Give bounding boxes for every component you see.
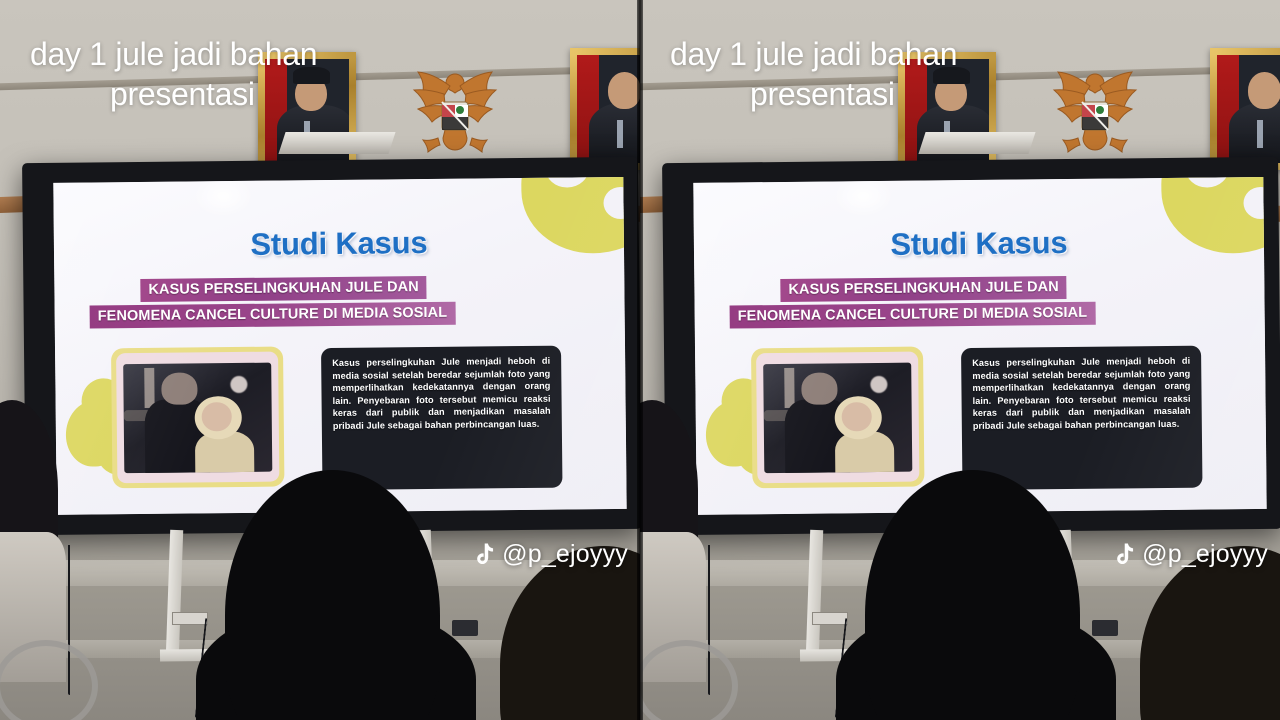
tv-screen: Studi Kasus KASUS PERSELINGKUHAN JULE DA… bbox=[53, 177, 626, 515]
tiktok-handle: @p_ejoyyy bbox=[502, 540, 628, 569]
slide-body-card: Kasus perselingkuhan Jule menjadi heboh … bbox=[961, 346, 1202, 491]
slide-banner-line-1: KASUS PERSELINGKUHAN JULE DAN bbox=[140, 276, 427, 302]
caption-line-2: presentasi bbox=[110, 74, 640, 114]
photo-light-beam bbox=[784, 368, 795, 407]
equipment-box bbox=[1092, 620, 1118, 636]
photo-person-2-face bbox=[842, 402, 872, 431]
caption-line-2: presentasi bbox=[750, 74, 1280, 114]
portrait-tie bbox=[617, 120, 623, 148]
tv-screen: Studi Kasus KASUS PERSELINGKUHAN JULE DA… bbox=[693, 177, 1266, 515]
split-seam bbox=[637, 0, 643, 720]
slide-body-text: Kasus perselingkuhan Jule menjadi heboh … bbox=[332, 355, 551, 433]
slide-photo-frame bbox=[751, 347, 924, 489]
video-half-right: Studi Kasus KASUS PERSELINGKUHAN JULE DA… bbox=[640, 0, 1280, 720]
video-half-left: Studi Kasus KASUS PERSELINGKUHAN JULE DA… bbox=[0, 0, 640, 720]
lectern bbox=[278, 132, 395, 154]
video-frame: Studi Kasus KASUS PERSELINGKUHAN JULE DA… bbox=[0, 0, 1280, 720]
slide-banner-line-2: FENOMENA CANCEL CULTURE DI MEDIA SOSIAL bbox=[730, 302, 1096, 329]
stand-label-plate bbox=[812, 612, 848, 625]
slide-title: Studi Kasus bbox=[54, 223, 624, 265]
photo-person-2-face bbox=[202, 402, 232, 431]
slide-body-card: Kasus perselingkuhan Jule menjadi heboh … bbox=[321, 346, 562, 491]
tiktok-handle: @p_ejoyyy bbox=[1142, 540, 1268, 569]
presentation-slide: Studi Kasus KASUS PERSELINGKUHAN JULE DA… bbox=[693, 177, 1266, 515]
caption-line-1: day 1 jule jadi bahan bbox=[30, 34, 640, 74]
photo-mat bbox=[116, 352, 279, 484]
screen-glare bbox=[833, 177, 893, 218]
photo-light-orb bbox=[231, 376, 248, 393]
photo-mat bbox=[756, 352, 919, 484]
tiktok-note-icon bbox=[1114, 542, 1136, 568]
slide-photo-frame bbox=[111, 347, 284, 489]
slide-title: Studi Kasus bbox=[694, 223, 1264, 265]
overlay-caption: day 1 jule jadi bahan presentasi bbox=[640, 34, 1280, 114]
case-photo bbox=[123, 363, 272, 474]
equipment-box bbox=[452, 620, 478, 636]
stand-label-plate bbox=[172, 612, 208, 625]
overlay-caption: day 1 jule jadi bahan presentasi bbox=[0, 34, 640, 114]
presentation-slide: Studi Kasus KASUS PERSELINGKUHAN JULE DA… bbox=[53, 177, 626, 515]
photo-person-1-head bbox=[802, 372, 838, 405]
tiktok-watermark: @p_ejoyyy bbox=[1114, 540, 1268, 569]
photo-light-beam bbox=[144, 368, 155, 407]
tiktok-note-icon bbox=[474, 542, 496, 568]
caption-line-1: day 1 jule jadi bahan bbox=[670, 34, 1280, 74]
tiktok-watermark: @p_ejoyyy bbox=[474, 540, 628, 569]
photo-person-1-head bbox=[162, 372, 198, 405]
slide-banner-line-2: FENOMENA CANCEL CULTURE DI MEDIA SOSIAL bbox=[90, 302, 456, 329]
portrait-tie bbox=[1257, 120, 1263, 148]
screen-glare bbox=[193, 177, 253, 218]
slide-banner-line-1: KASUS PERSELINGKUHAN JULE DAN bbox=[780, 276, 1067, 302]
slide-body-text: Kasus perselingkuhan Jule menjadi heboh … bbox=[972, 355, 1191, 433]
case-photo bbox=[763, 363, 912, 474]
photo-light-orb bbox=[871, 376, 888, 393]
lectern bbox=[918, 132, 1035, 154]
